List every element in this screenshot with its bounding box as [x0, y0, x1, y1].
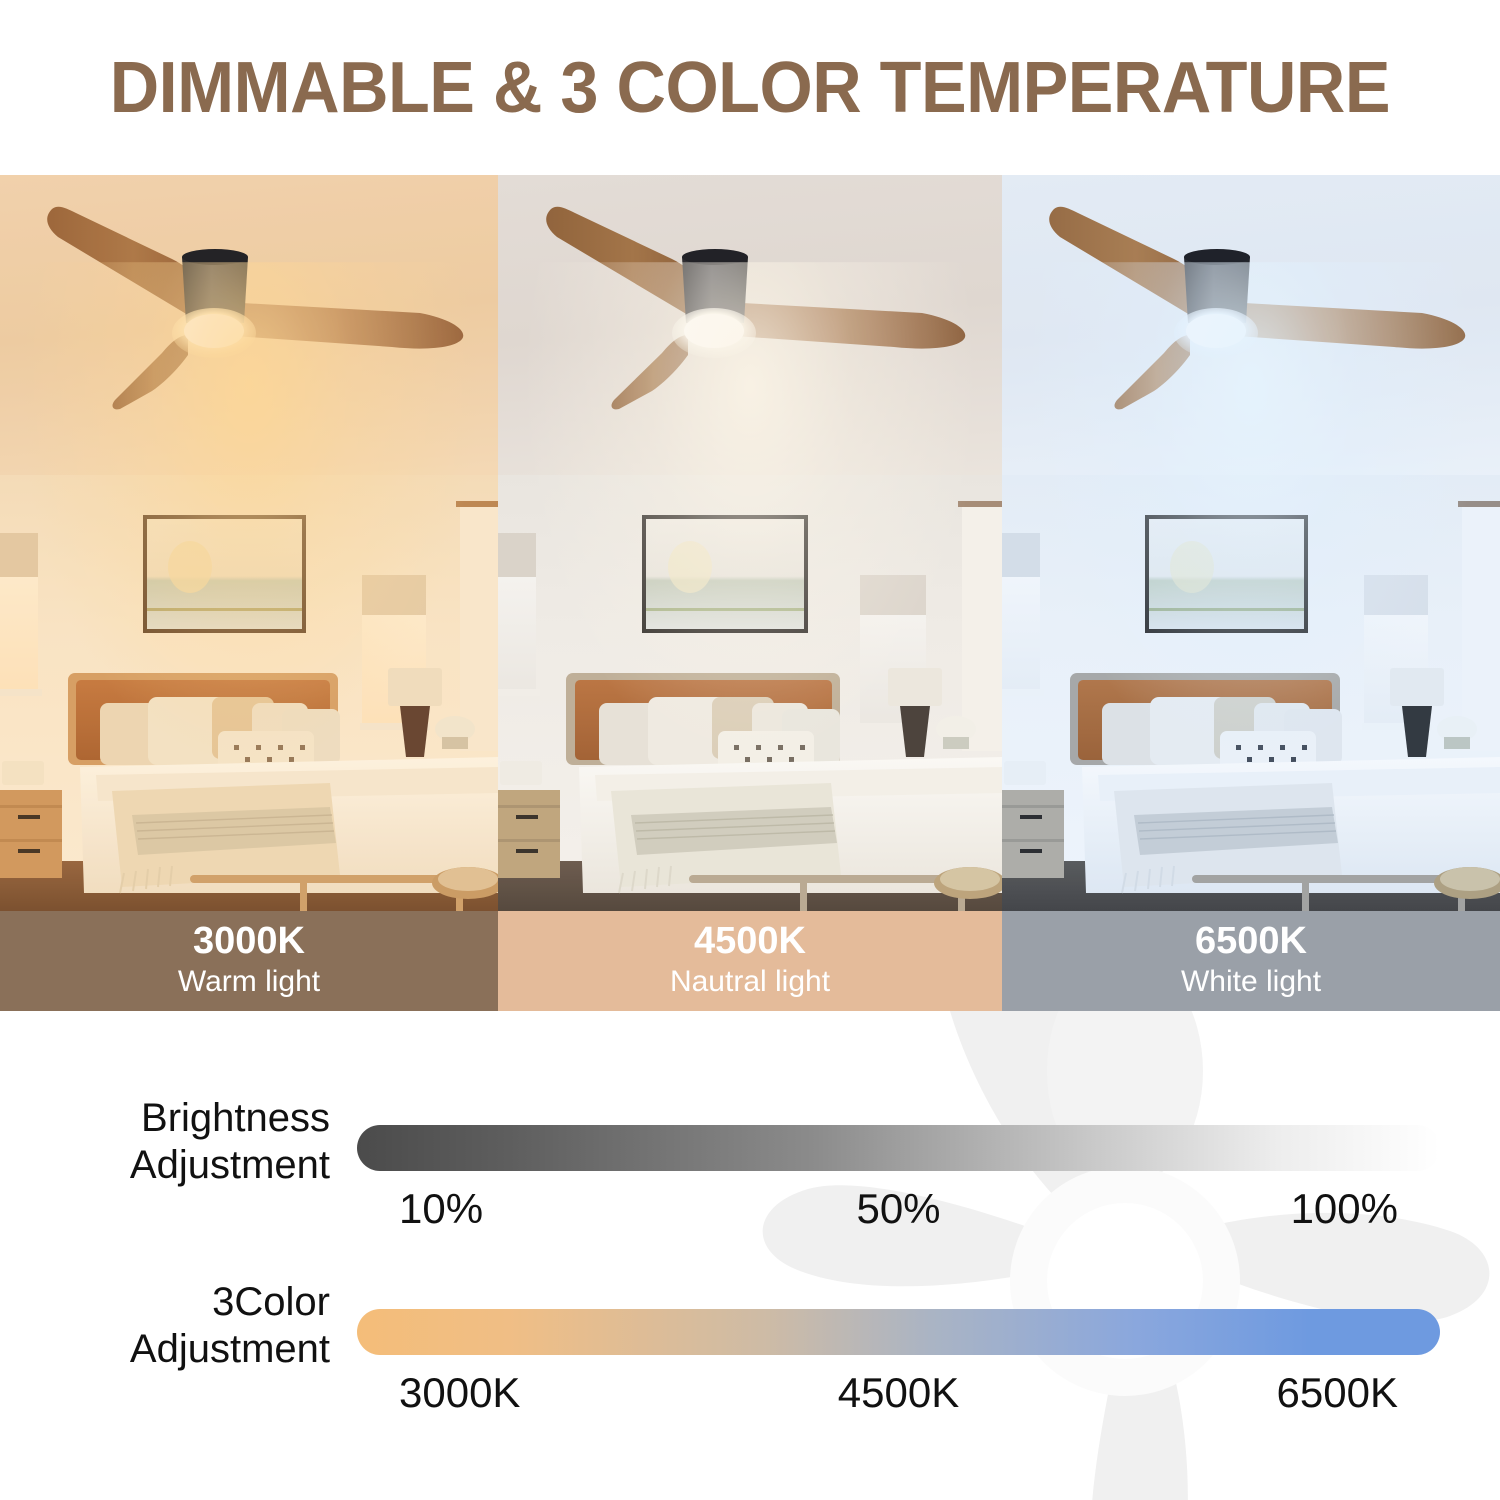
light-name: Warm light: [178, 964, 320, 1000]
light-name: Nautral light: [670, 964, 830, 1000]
color-slider: 3Color Adjustment 3000K 4500K 6500K: [0, 1279, 1500, 1459]
bedroom-scene-white: [1002, 175, 1500, 911]
brightness-tick-min: 10%: [399, 1185, 483, 1233]
adjustment-section: Brightness Adjustment 10% 50% 100% 3Colo…: [0, 1011, 1500, 1500]
brightness-tick-labels: 10% 50% 100%: [357, 1185, 1440, 1241]
color-label-line1: 3Color: [0, 1279, 330, 1326]
page-title: DIMMABLE & 3 COLOR TEMPERATURE: [110, 47, 1390, 129]
label-bar-3000k: 3000K Warm light: [0, 911, 498, 1011]
label-bar-6500k: 6500K White light: [1002, 911, 1500, 1011]
color-tick-max: 6500K: [1277, 1369, 1398, 1417]
bedroom-furniture: [0, 475, 498, 911]
brightness-gradient-bar[interactable]: [357, 1125, 1440, 1171]
panel-6500k: 6500K White light: [1002, 175, 1500, 1011]
light-name: White light: [1181, 964, 1321, 1000]
brightness-slider: Brightness Adjustment 10% 50% 100%: [0, 1095, 1500, 1275]
page-header: DIMMABLE & 3 COLOR TEMPERATURE: [0, 0, 1500, 175]
bedroom-scene-neutral: [498, 175, 1002, 911]
panel-4500k: 4500K Nautral light: [498, 175, 1002, 1011]
label-bar-4500k: 4500K Nautral light: [498, 911, 1002, 1011]
ceiling-fan-warm: [0, 175, 498, 475]
ceiling-fan-white: [1002, 175, 1500, 475]
color-tick-min: 3000K: [399, 1369, 520, 1417]
brightness-label: Brightness Adjustment: [0, 1095, 330, 1189]
brightness-label-line2: Adjustment: [0, 1142, 330, 1189]
bedroom-scene-warm: [0, 175, 498, 911]
color-label-line2: Adjustment: [0, 1326, 330, 1373]
color-label: 3Color Adjustment: [0, 1279, 330, 1373]
kelvin-value: 4500K: [694, 922, 806, 962]
bedroom-furniture: [1002, 475, 1500, 911]
color-gradient-bar[interactable]: [357, 1309, 1440, 1355]
brightness-tick-max: 100%: [1291, 1185, 1398, 1233]
ceiling-fan-neutral: [498, 175, 1002, 475]
brightness-label-line1: Brightness: [0, 1095, 330, 1142]
color-tick-labels: 3000K 4500K 6500K: [357, 1369, 1440, 1425]
color-tick-mid: 4500K: [838, 1369, 959, 1417]
brightness-tick-mid: 50%: [856, 1185, 940, 1233]
color-temperature-comparison: 3000K Warm light: [0, 175, 1500, 1011]
kelvin-value: 3000K: [193, 922, 305, 962]
kelvin-value: 6500K: [1195, 922, 1307, 962]
bedroom-furniture: [498, 475, 1002, 911]
panel-3000k: 3000K Warm light: [0, 175, 498, 1011]
